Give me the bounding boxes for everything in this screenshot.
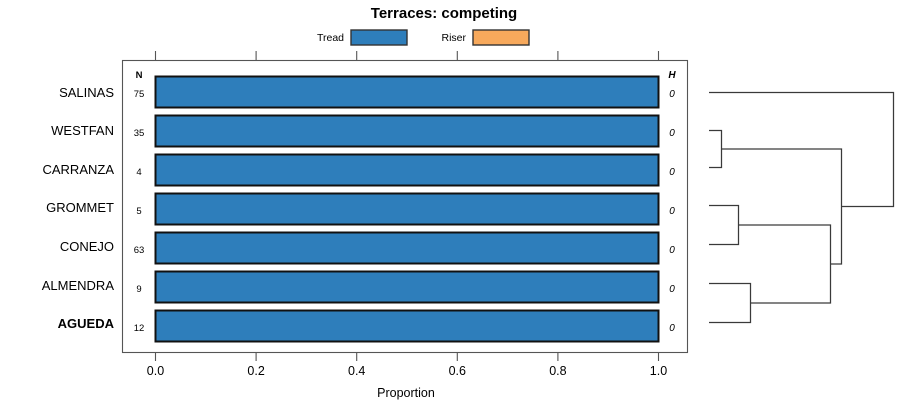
page-title: Terraces: competing [371, 5, 517, 22]
bar-tread-westfan [156, 116, 659, 147]
bar-tread-salinas [156, 77, 659, 108]
bottom-axis-ticks [156, 352, 659, 361]
chart-row: GROMMET 5 0 [46, 194, 675, 225]
row-n-value: 63 [134, 245, 145, 256]
chart-row: ALMENDRA 9 0 [42, 272, 675, 303]
row-h-value: 0 [669, 323, 675, 334]
bar-tread-conejo [156, 233, 659, 264]
row-h-value: 0 [669, 284, 675, 295]
legend: Tread Riser [317, 30, 529, 45]
row-n-value: 9 [136, 284, 141, 295]
x-axis-tick-labels: 0.0 0.2 0.4 0.6 0.8 1.0 [147, 364, 667, 378]
x-tick-label: 0.2 [247, 364, 264, 378]
dendro-node-mid-merge [722, 149, 842, 264]
row-n-value: 4 [136, 167, 141, 178]
row-n-value: 5 [136, 206, 141, 217]
x-tick-label: 0.8 [549, 364, 566, 378]
legend-swatch-tread [351, 30, 407, 45]
row-n-value: 12 [134, 323, 145, 334]
chart-canvas: Terraces: competing Tread Riser [0, 0, 900, 420]
category-label-agueda: AGUEDA [58, 316, 115, 331]
row-h-value: 0 [669, 128, 675, 139]
row-h-value: 0 [669, 167, 675, 178]
x-tick-label: 0.0 [147, 364, 164, 378]
column-header-h: H [668, 70, 676, 81]
category-label-westfan: WESTFAN [51, 123, 114, 138]
bar-tread-agueda [156, 311, 659, 342]
x-tick-label: 1.0 [650, 364, 667, 378]
chart-row: AGUEDA 12 0 [58, 311, 676, 342]
category-label-salinas: SALINAS [59, 85, 114, 100]
bar-tread-carranza [156, 155, 659, 186]
column-header-n: N [136, 70, 143, 81]
row-n-value: 75 [134, 89, 145, 100]
category-label-grommet: GROMMET [46, 200, 114, 215]
dendro-node-westfan-carranza [709, 131, 722, 168]
legend-swatch-riser [473, 30, 529, 45]
x-tick-label: 0.6 [449, 364, 466, 378]
row-h-value: 0 [669, 206, 675, 217]
terraces-competing-chart: Terraces: competing Tread Riser [0, 0, 900, 420]
bar-tread-grommet [156, 194, 659, 225]
dendrogram [709, 93, 894, 323]
top-axis-ticks [156, 51, 659, 60]
x-tick-label: 0.4 [348, 364, 365, 378]
dendro-node-almendra-agueda [709, 284, 751, 323]
row-h-value: 0 [669, 245, 675, 256]
dendro-node-lower-merge [739, 225, 831, 303]
chart-row: CARRANZA 4 0 [42, 155, 675, 186]
chart-row: WESTFAN 35 0 [51, 116, 675, 147]
x-axis-title: Proportion [377, 386, 435, 400]
category-label-carranza: CARRANZA [42, 162, 114, 177]
chart-row: SALINAS 75 0 [59, 77, 675, 108]
row-n-value: 35 [134, 128, 145, 139]
dendro-node-grommet-conejo [709, 206, 739, 245]
row-h-value: 0 [669, 89, 675, 100]
chart-row: CONEJO 63 0 [60, 233, 675, 264]
legend-label-riser: Riser [441, 32, 466, 44]
bar-tread-almendra [156, 272, 659, 303]
category-label-almendra: ALMENDRA [42, 278, 115, 293]
legend-label-tread: Tread [317, 32, 344, 44]
category-label-conejo: CONEJO [60, 239, 114, 254]
